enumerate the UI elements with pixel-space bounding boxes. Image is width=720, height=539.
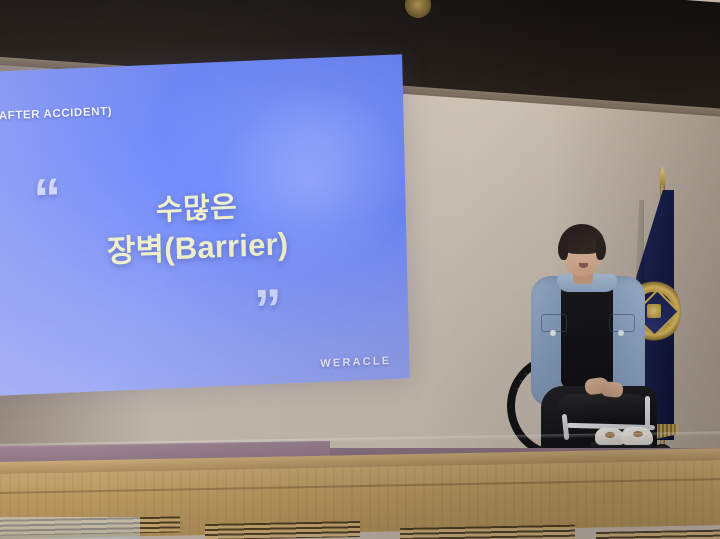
- mouth: [579, 263, 588, 268]
- hair-side-right: [596, 238, 606, 260]
- hand-right: [600, 381, 623, 398]
- projection-screen: 삶 (AFTER ACCIDENT) “ 수많은 장벽(Barrier) ” W…: [0, 54, 410, 396]
- speaker-in-wheelchair: [505, 218, 685, 468]
- eye-right: [587, 248, 594, 251]
- stage-vent-2: [205, 521, 360, 539]
- quote-close-mark: ”: [254, 292, 281, 327]
- screenshot-scene: 삶 (AFTER ACCIDENT) “ 수많은 장벽(Barrier) ” W…: [0, 0, 720, 539]
- eye-left: [571, 248, 578, 251]
- jacket-button-left: [550, 330, 556, 336]
- hair-side-left: [558, 238, 568, 260]
- lapel-microphone-icon: [584, 326, 589, 335]
- floor-strip: [0, 517, 140, 539]
- stage-vent-4: [596, 530, 720, 539]
- jacket-button-right: [618, 330, 624, 336]
- ceiling-ornament-icon: [405, 0, 431, 18]
- lap-shadow: [557, 394, 649, 424]
- stage-vent-3: [400, 525, 575, 539]
